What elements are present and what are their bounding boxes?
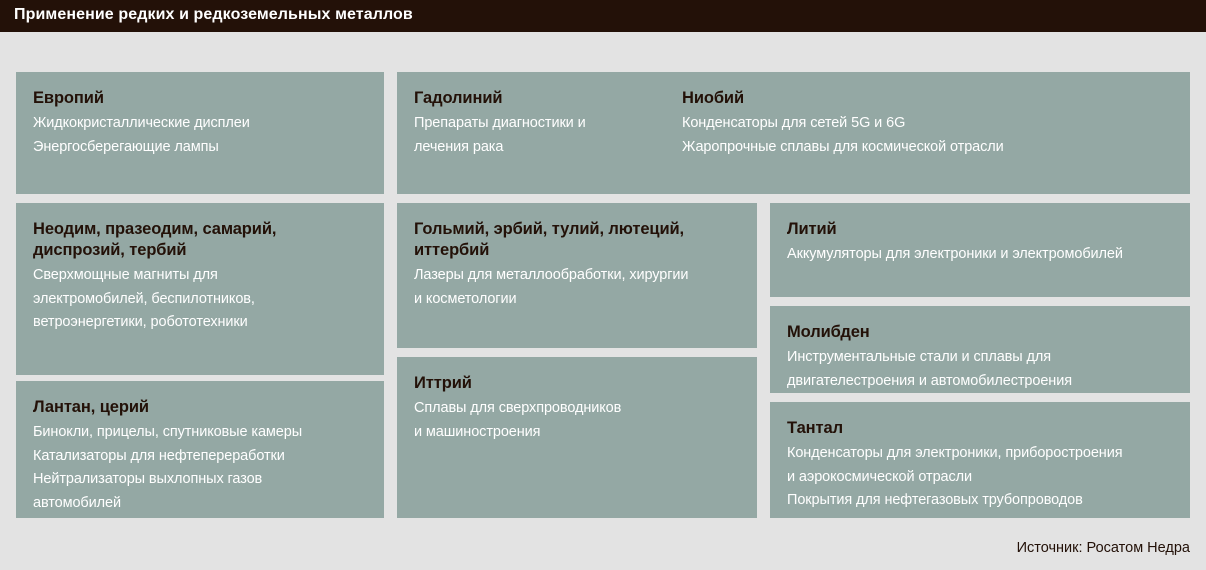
card-title: Молибден (787, 322, 1173, 343)
card-title: Европий (33, 88, 367, 109)
header-bar: Применение редких и редкоземельных метал… (0, 0, 1206, 32)
card-body: Конденсаторы для электроники, приборостр… (787, 442, 1173, 512)
card-title: Ниобий (682, 88, 1173, 109)
card-lithium: Литий Аккумуляторы для электроники и эле… (770, 203, 1190, 297)
card-body: Лазеры для металлообработки, хирургии и … (414, 264, 740, 311)
page-title: Применение редких и редкоземельных метал… (14, 6, 413, 24)
card-molybdenum: Молибден Инструментальные стали и сплавы… (770, 306, 1190, 393)
card-title: Литий (787, 219, 1173, 240)
card-title: Неодим, празеодим, самарий, диспрозий, т… (33, 219, 367, 261)
card-body: Жидкокристаллические дисплеи Энергосбере… (33, 112, 367, 159)
infographic-page: Применение редких и редкоземельных метал… (0, 0, 1206, 570)
card-title: Лантан, церий (33, 397, 367, 418)
card-europium: Европий Жидкокристаллические дисплеи Эне… (16, 72, 384, 194)
card-body: Бинокли, прицелы, спутниковые камеры Кат… (33, 421, 367, 515)
card-title: Гольмий, эрбий, тулий, лютеций, иттербий (414, 219, 740, 261)
card-title: Тантал (787, 418, 1173, 439)
card-body: Сплавы для сверхпроводников и машиностро… (414, 397, 740, 444)
card-holmium: Гольмий, эрбий, тулий, лютеций, иттербий… (397, 203, 757, 348)
card-neodymium: Неодим, празеодим, самарий, диспрозий, т… (16, 203, 384, 375)
card-lanthanum: Лантан, церий Бинокли, прицелы, спутнико… (16, 381, 384, 518)
card-body: Инструментальные стали и сплавы для двиг… (787, 346, 1173, 393)
card-tantalum: Тантал Конденсаторы для электроники, при… (770, 402, 1190, 518)
card-body: Конденсаторы для сетей 5G и 6G Жаропрочн… (682, 112, 1173, 159)
card-yttrium: Иттрий Сплавы для сверхпроводников и маш… (397, 357, 757, 518)
card-body: Аккумуляторы для электроники и электромо… (787, 243, 1173, 266)
card-niobium: Ниобий Конденсаторы для сетей 5G и 6G Жа… (665, 72, 1190, 194)
card-title: Иттрий (414, 373, 740, 394)
source-attribution: Источник: Росатом Недра (1017, 540, 1190, 556)
card-body: Сверхмощные магниты для электромобилей, … (33, 264, 367, 334)
